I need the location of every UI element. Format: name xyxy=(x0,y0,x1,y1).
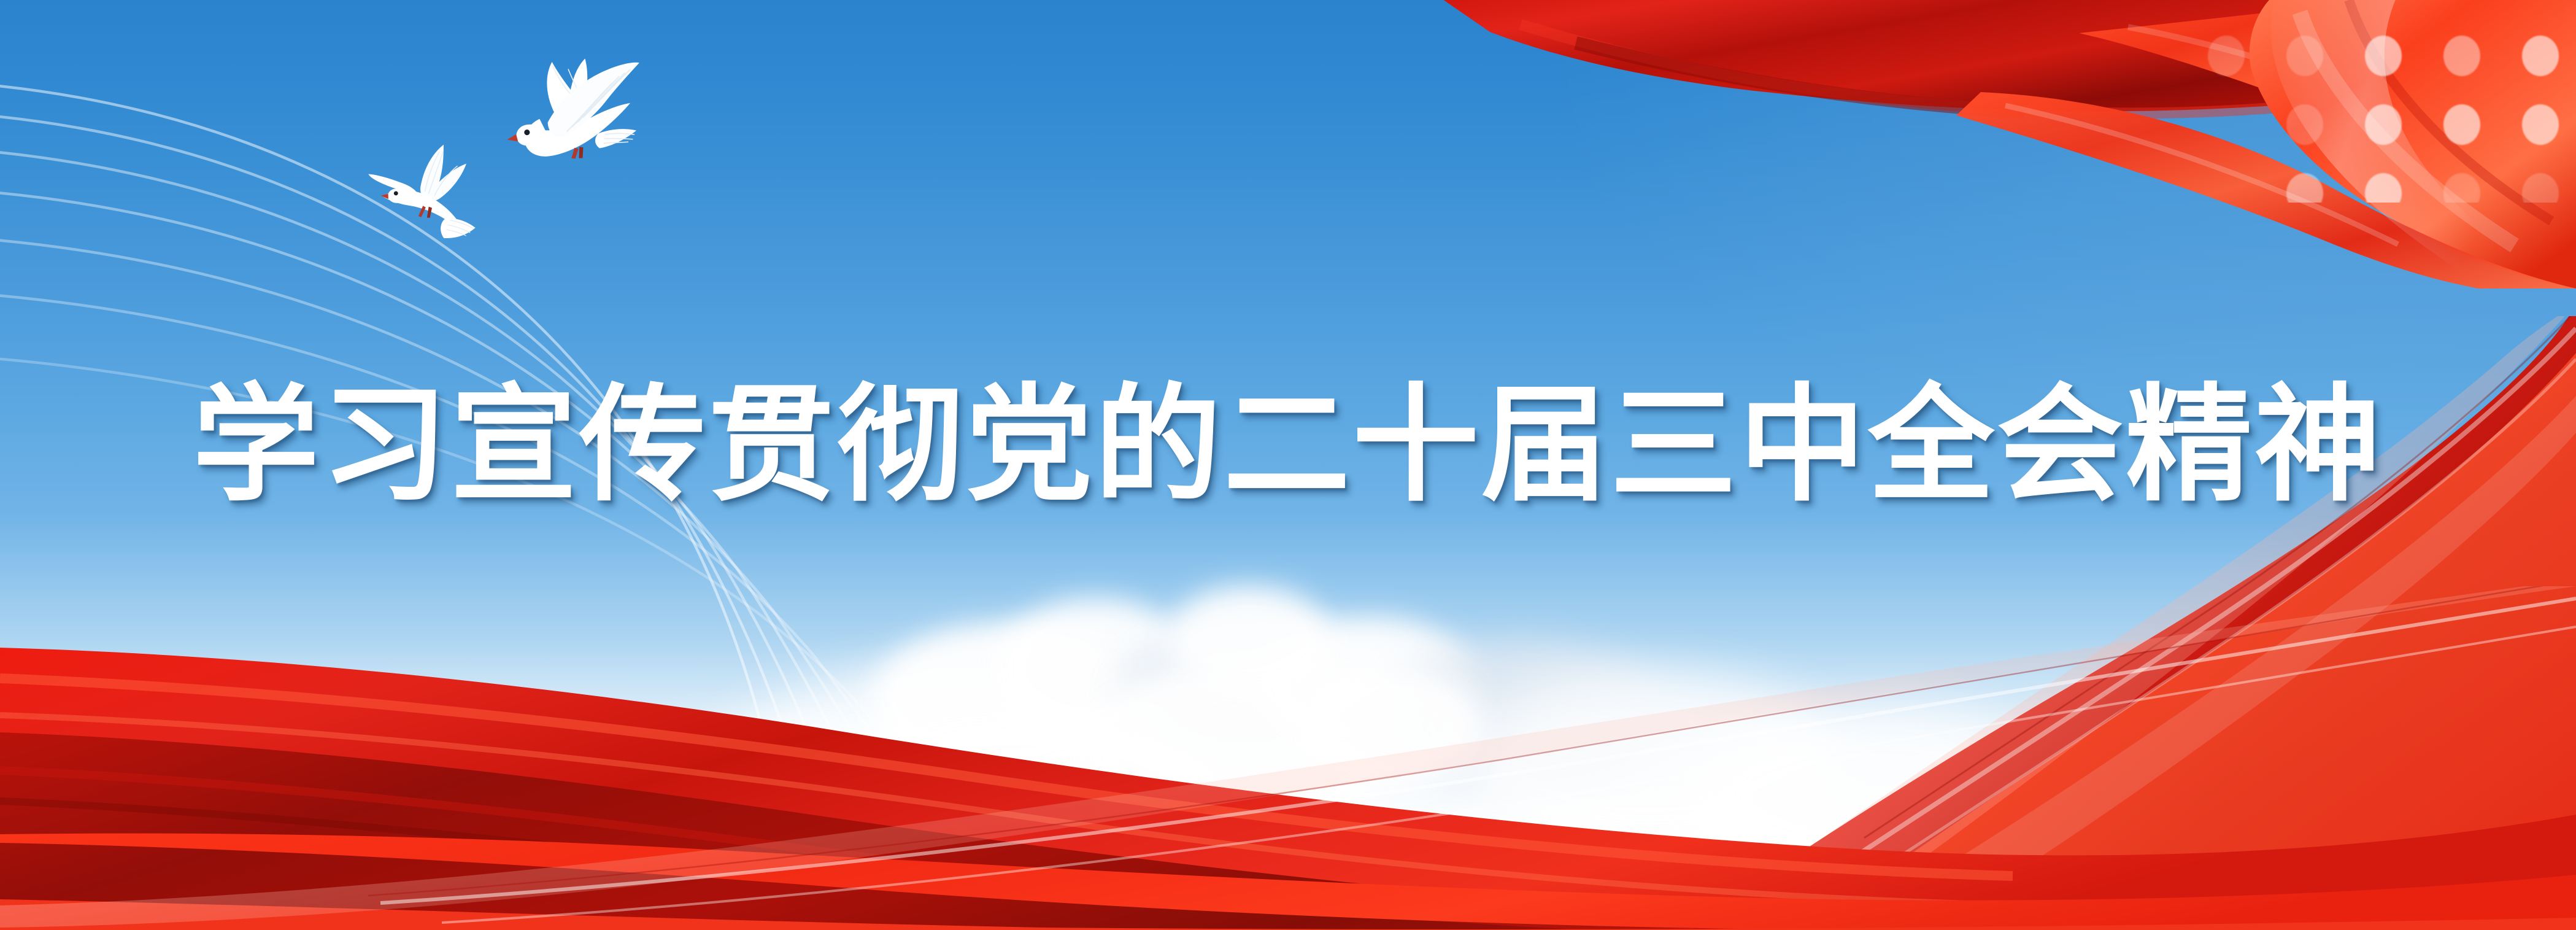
banner-canvas: 学习宣传贯彻党的二十届三中全会精神 xyxy=(0,0,2576,930)
dove-upper-right xyxy=(474,42,661,209)
dove-lower-left xyxy=(361,134,501,254)
red-silk-ribbon-top-right xyxy=(1318,0,2576,289)
red-silk-wave-bottom xyxy=(0,586,2576,930)
page-title: 学习宣传贯彻党的二十届三中全会精神 xyxy=(0,376,2576,517)
